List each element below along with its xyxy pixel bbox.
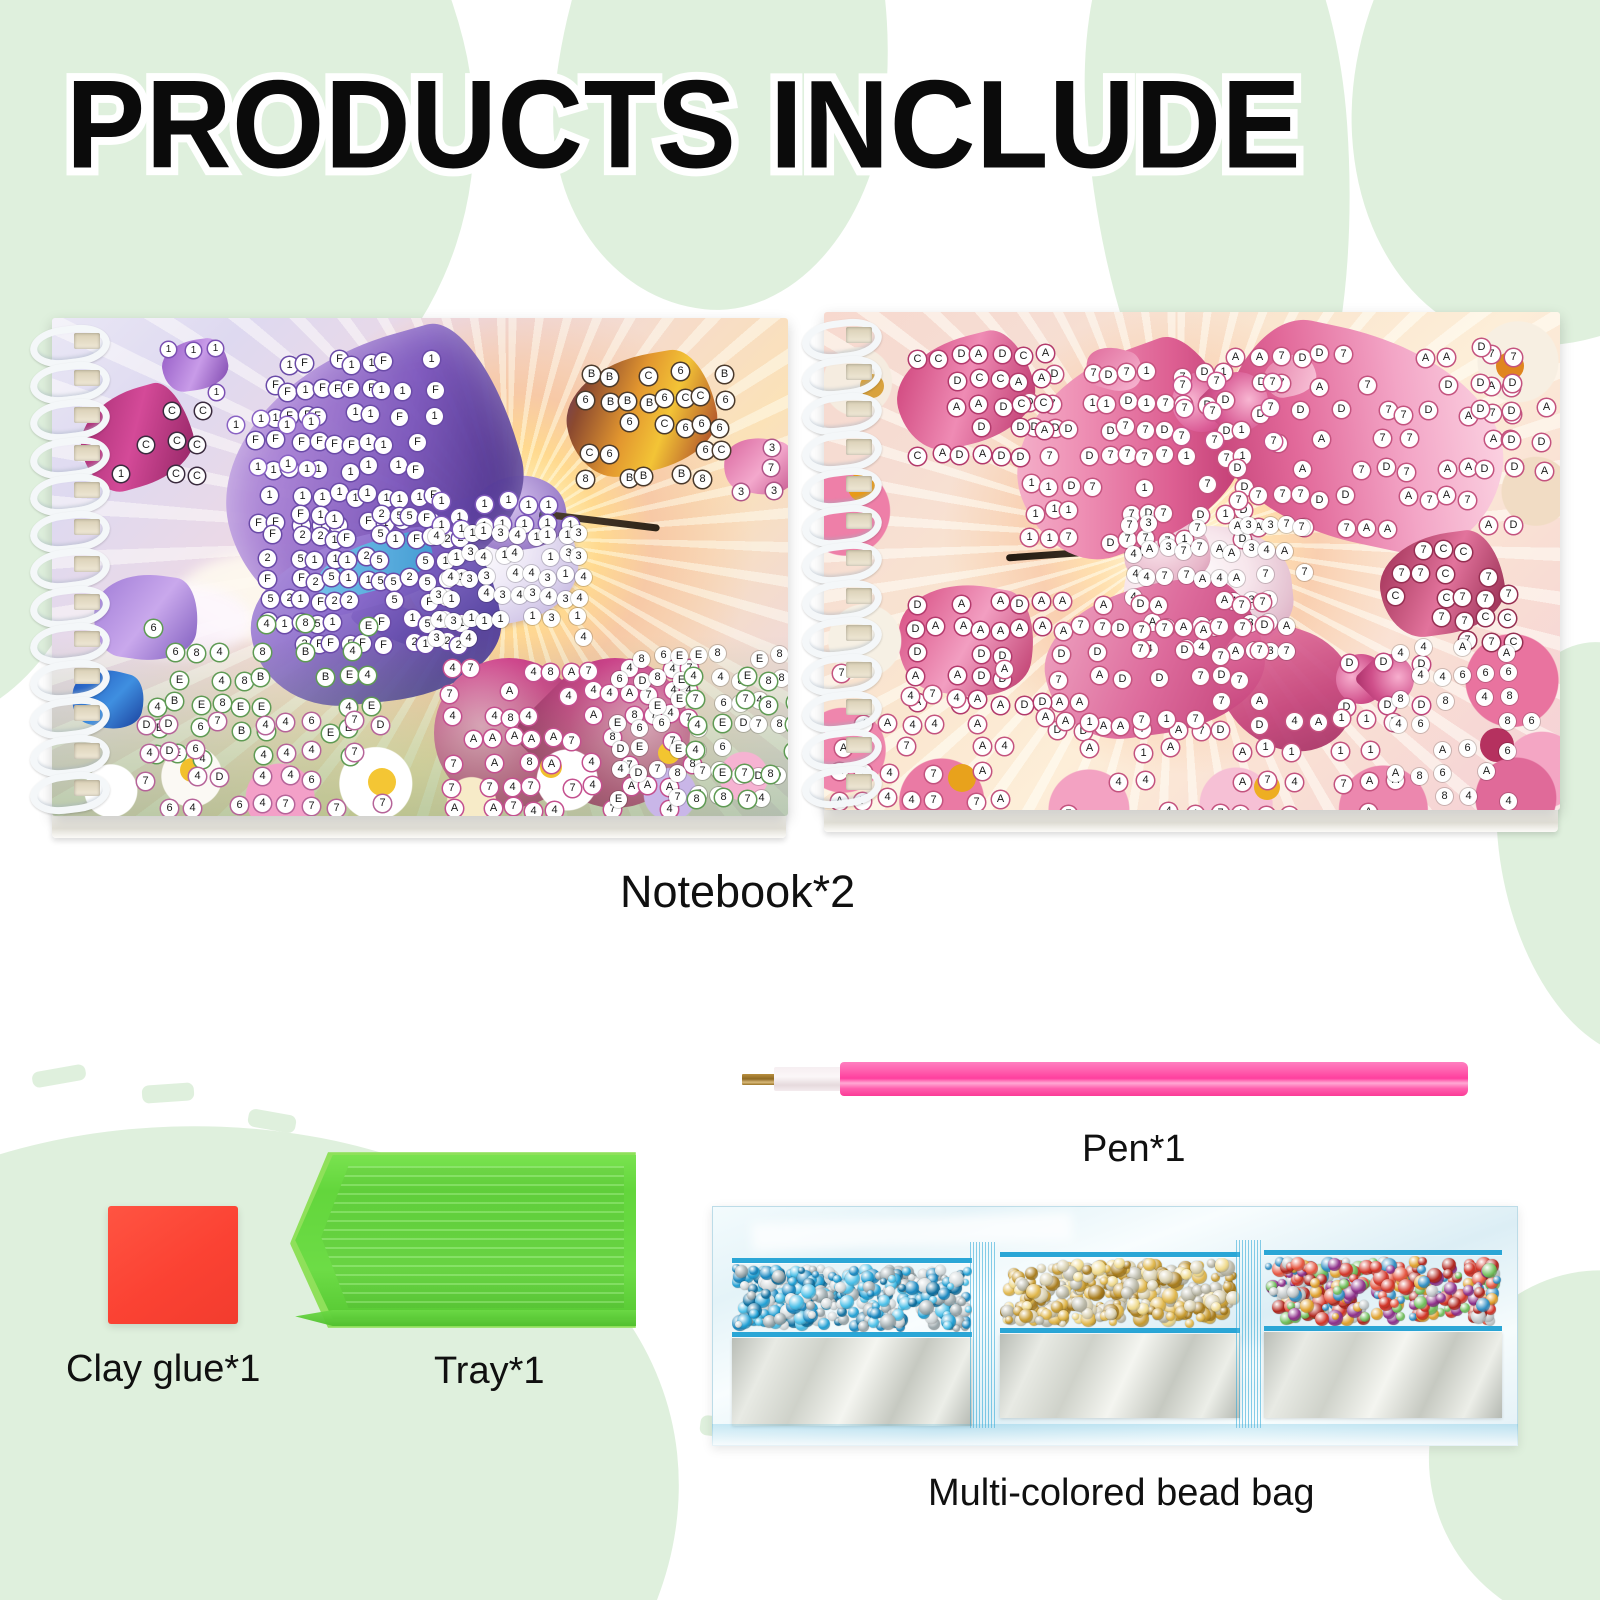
drill-marker: 2 xyxy=(401,569,418,586)
drill-marker: 4 xyxy=(1390,716,1407,733)
drill-marker: 4 xyxy=(282,767,299,784)
drill-marker: 7 xyxy=(1398,464,1415,481)
drill-marker: 1 xyxy=(557,566,574,583)
drill-marker: 7 xyxy=(374,795,391,812)
drill-marker: B xyxy=(233,723,250,740)
drill-marker: A xyxy=(1251,349,1268,366)
rhinestone-bead xyxy=(1026,1284,1041,1299)
drill-marker: 8 xyxy=(236,673,253,690)
spiral-punch-hole xyxy=(846,662,872,678)
drill-marker: 6 xyxy=(167,644,184,661)
drill-marker: 7 xyxy=(1257,566,1274,583)
rhinestone-bead xyxy=(1300,1299,1314,1313)
drill-marker: 7 xyxy=(1094,619,1111,636)
drill-marker: 4 xyxy=(478,585,495,602)
drill-marker: D xyxy=(1151,670,1168,687)
drill-marker: 7 xyxy=(737,691,754,708)
drill-marker: D xyxy=(1212,722,1229,739)
rhinestone-bead xyxy=(1019,1309,1033,1323)
caption-clay-glue: Clay glue*1 xyxy=(66,1348,260,1391)
rhinestone-bead xyxy=(1185,1319,1194,1328)
notebook-pink-hummingbird[interactable]: D7D717D1D711D177DDDDDD77DD17D777717111D7… xyxy=(800,312,1560,832)
drill-marker: 1 xyxy=(1027,506,1044,523)
drill-marker: A xyxy=(1387,765,1404,782)
drill-marker: 7 xyxy=(1505,349,1522,366)
drill-marker: 1 xyxy=(1081,714,1098,731)
rhinestone-bead xyxy=(1190,1261,1203,1274)
drill-marker: A xyxy=(1234,774,1251,791)
rhinestone-bead xyxy=(1211,1302,1221,1312)
drill-marker: E xyxy=(670,741,687,758)
rhinestone-bead xyxy=(1269,1287,1278,1296)
drill-marker: C xyxy=(640,368,657,385)
drill-marker: D xyxy=(1413,697,1430,714)
drill-marker: A xyxy=(563,664,580,681)
drill-marker: 5 xyxy=(323,569,340,586)
drill-marker: 7 xyxy=(1174,377,1191,394)
drill-marker: 4 xyxy=(584,777,601,794)
drill-marker: D xyxy=(1476,461,1493,478)
drill-marker: F xyxy=(279,384,296,401)
drill-marker: 3 xyxy=(543,610,560,627)
drill-marker: D xyxy=(994,346,1011,363)
drill-marker: 4 xyxy=(277,714,294,731)
drill-marker: B xyxy=(716,366,733,383)
drill-marker: 7 xyxy=(1189,520,1206,537)
spiral-punch-hole xyxy=(74,780,100,796)
rhinestone-bead xyxy=(905,1281,919,1295)
drill-marker: 3 xyxy=(766,483,782,499)
drill-marker: 3 xyxy=(570,548,587,565)
drill-marker: 1 xyxy=(1257,739,1274,756)
drill-marker: 7 xyxy=(1433,609,1450,626)
rhinestone-bead xyxy=(1396,1312,1405,1321)
rhinestone-bead xyxy=(888,1275,896,1283)
blue-bead-pouch xyxy=(732,1240,972,1428)
drill-marker: 7 xyxy=(1137,422,1154,439)
drill-marker: 8 xyxy=(760,673,777,690)
drill-marker: 1 xyxy=(306,552,323,569)
drill-marker: 7 xyxy=(649,761,666,778)
rhinestone-bead xyxy=(774,1313,786,1325)
drill-marker: D xyxy=(1229,460,1246,477)
zip-seal xyxy=(1000,1252,1240,1257)
drill-marker: 4 xyxy=(444,660,461,677)
drill-marker: F xyxy=(259,571,276,588)
drill-marker: D xyxy=(138,717,155,734)
drill-marker: 7 xyxy=(462,660,479,677)
caption-notebook: Notebook*2 xyxy=(620,866,855,918)
drill-marker: 4 xyxy=(1415,639,1432,656)
silver-foil-label xyxy=(1264,1332,1502,1418)
drill-marker: C xyxy=(930,351,947,368)
drill-marker: 6 xyxy=(715,695,732,712)
drill-marker: C xyxy=(1013,396,1030,413)
drill-marker: 4 xyxy=(612,761,629,778)
diamond-painting-pen[interactable] xyxy=(742,1062,1468,1096)
drill-marker: 6 xyxy=(1434,765,1451,782)
drill-marker: 8 xyxy=(1436,788,1453,805)
drill-marker: 3 xyxy=(494,587,511,604)
drill-marker: D xyxy=(1533,434,1550,451)
rhinestone-bead xyxy=(1455,1272,1462,1279)
drill-marker: 7 xyxy=(1250,487,1267,504)
drill-marker: D xyxy=(1132,596,1149,613)
rhinestone-bead xyxy=(755,1318,763,1326)
drill-marker: 7 xyxy=(898,738,915,755)
drill-marker: 7 xyxy=(968,794,985,810)
drill-marker: 4 xyxy=(254,768,271,785)
drill-marker: 1 xyxy=(500,492,517,509)
zip-seal xyxy=(1264,1250,1502,1255)
drill-marker: D xyxy=(1112,620,1129,637)
drill-marker: 1 xyxy=(342,464,359,481)
spiral-punch-hole xyxy=(74,445,100,461)
drill-marker: A xyxy=(996,661,1013,678)
drill-marker: F xyxy=(264,526,281,543)
drill-marker: F xyxy=(427,382,444,399)
drill-marker: 1 xyxy=(1136,480,1153,497)
drill-marker: 7 xyxy=(739,791,756,808)
page-title: PRODUCTS INCLUDE xyxy=(66,52,1301,196)
drill-marker: D xyxy=(1333,401,1350,418)
rhinestone-bead xyxy=(740,1281,749,1290)
drill-marker: 1 xyxy=(294,488,311,505)
drill-marker: 1 xyxy=(1138,395,1155,412)
drill-marker: D xyxy=(1472,401,1489,418)
drill-marker: A xyxy=(486,755,503,772)
drill-marker: E xyxy=(322,725,339,742)
drill-marker: 7 xyxy=(445,756,462,773)
drill-marker: C xyxy=(1387,588,1404,605)
drill-marker: A xyxy=(1310,714,1327,731)
drill-marker: 4 xyxy=(571,590,588,607)
drill-marker: B xyxy=(635,468,652,485)
drill-marker: A xyxy=(1434,742,1451,759)
drill-marker: 6 xyxy=(1499,743,1516,760)
drill-marker: 1 xyxy=(280,456,296,472)
drill-marker: 4 xyxy=(1286,774,1303,791)
drill-marker: C xyxy=(992,371,1009,388)
drill-marker: 8 xyxy=(542,664,559,681)
drill-marker: 7 xyxy=(1483,634,1500,651)
drill-marker: 1 xyxy=(1283,744,1300,761)
drill-marker: 7 xyxy=(1157,395,1174,412)
drill-marker: A xyxy=(1081,740,1098,757)
drill-marker: 7 xyxy=(1264,374,1281,391)
notebook-cover-artwork: 1FF11F1FF1FFFF11F1FFF11F1FFFFFF11F1F1111… xyxy=(52,318,788,816)
drill-marker: D xyxy=(1063,478,1080,495)
rhinestone-bead xyxy=(1166,1312,1175,1321)
drill-marker: D xyxy=(161,743,178,760)
drill-marker: 7 xyxy=(1454,589,1471,606)
drill-marker: 6 xyxy=(677,420,694,437)
spiral-punch-hole xyxy=(74,743,100,759)
drill-marker: 1 xyxy=(1040,479,1057,496)
drill-marker: 3 xyxy=(461,571,478,588)
drill-marker: 4 xyxy=(996,738,1013,755)
drill-marker: C xyxy=(909,448,926,465)
clay-glue-block[interactable] xyxy=(108,1206,238,1324)
drill-marker: 1 xyxy=(360,457,377,474)
drill-marker: A xyxy=(1536,463,1553,480)
drill-marker: 6 xyxy=(697,442,714,459)
drill-marker: A xyxy=(1379,521,1396,538)
drill-marker: 8 xyxy=(297,615,314,632)
drill-marker: 7 xyxy=(1191,539,1208,556)
rhinestone-bead xyxy=(1100,1277,1108,1285)
drill-marker: A xyxy=(1051,694,1068,711)
rhinestone-bead xyxy=(1278,1279,1286,1287)
drill-marker: 7 xyxy=(1133,712,1150,729)
spiral-punch-hole xyxy=(74,407,100,423)
drill-marker: 7 xyxy=(1231,672,1248,689)
drill-marker: F xyxy=(322,635,339,652)
drill-marker: 8 xyxy=(577,471,594,488)
drill-marker: 4 xyxy=(344,643,361,660)
drill-marker: 1 xyxy=(339,552,356,569)
drill-marker: A xyxy=(1278,618,1295,635)
drill-marker: B xyxy=(583,366,600,383)
rhinestone-bead xyxy=(735,1265,748,1278)
drill-marker: E xyxy=(610,791,627,808)
drill-marker: D xyxy=(1375,654,1392,671)
drill-marker: 3 xyxy=(570,525,587,542)
drill-marker: A xyxy=(992,697,1009,714)
rhinestone-bead xyxy=(735,1321,742,1328)
drill-marker: C xyxy=(1035,395,1052,412)
rhinestone-bead xyxy=(1056,1286,1069,1299)
rhinestone-bead xyxy=(821,1298,832,1309)
drill-marker: 7 xyxy=(580,663,597,680)
drill-marker: D xyxy=(909,644,926,661)
drill-marker: A xyxy=(1313,431,1330,448)
drill-marker: F xyxy=(292,506,309,523)
rhinestone-bead xyxy=(1025,1267,1038,1280)
rhinestone-bead xyxy=(1162,1288,1178,1304)
drill-marker: D xyxy=(1337,487,1354,504)
drill-marker: 7 xyxy=(1500,586,1517,603)
drill-marker: A xyxy=(934,445,951,462)
drill-marker: D xyxy=(1016,697,1033,714)
drill-marker: A xyxy=(1361,773,1378,790)
drill-marker: 6 xyxy=(631,720,648,737)
spiral-punch-hole xyxy=(74,556,100,572)
spiral-punch-hole xyxy=(846,625,872,641)
bag-ribbed-seam xyxy=(970,1242,996,1428)
drill-marker: 7 xyxy=(1456,613,1473,630)
drill-marker: D xyxy=(160,716,177,733)
drill-marker: 4 xyxy=(1434,669,1451,686)
drill-marker: A xyxy=(446,800,463,816)
drill-marker: 4 xyxy=(486,708,503,725)
drill-marker: 4 xyxy=(507,565,524,582)
drill-marker: 8 xyxy=(521,754,538,771)
drill-marker: 6 xyxy=(621,414,638,431)
drill-marker: E xyxy=(649,698,666,715)
drill-marker: D xyxy=(211,769,228,786)
drill-marker: A xyxy=(948,399,965,416)
drill-marker: A xyxy=(1400,488,1417,505)
drill-marker: A xyxy=(1036,422,1053,439)
drill-marker: D xyxy=(1504,375,1521,392)
drill-marker: 8 xyxy=(214,695,231,712)
drill-marker: A xyxy=(506,728,523,745)
drill-marker: 1 xyxy=(539,527,556,544)
drill-marker: 7 xyxy=(1119,446,1136,463)
drill-marker: D xyxy=(1256,617,1273,634)
red-beads xyxy=(1264,1256,1502,1326)
drill-marker: 1 xyxy=(569,608,586,625)
notebook-purple-hummingbird[interactable]: 1FF11F1FF1FFFF11F1FFF11F1FFFFFF11F1F1111… xyxy=(28,318,788,838)
drill-marker: A xyxy=(545,729,562,746)
tray-front-lip xyxy=(295,1310,636,1326)
drill-marker: A xyxy=(992,791,1009,808)
drill-marker: B xyxy=(166,693,183,710)
rhinestone-bead xyxy=(1328,1258,1341,1271)
drill-marker: C xyxy=(656,416,673,433)
drill-marker: 1 xyxy=(209,385,224,400)
drill-marker: A xyxy=(1033,593,1050,610)
drill-marker: 7 xyxy=(1230,492,1247,509)
rhinestone-bead xyxy=(908,1298,917,1307)
drill-marker: 7 xyxy=(1204,403,1221,420)
flower-cluster-bottom xyxy=(824,660,1560,810)
drill-marker: 1 xyxy=(292,591,309,608)
drill-marker: 1 xyxy=(362,406,379,423)
rhinestone-bead xyxy=(761,1289,771,1299)
drill-marker: 7 xyxy=(1262,399,1279,416)
drill-marker: 4 xyxy=(879,789,896,806)
rhinestone-bead xyxy=(1414,1296,1427,1309)
rhinestone-bead xyxy=(1460,1303,1470,1313)
rhinestone-bead xyxy=(1184,1300,1196,1312)
drill-marker: E xyxy=(232,699,249,716)
drill-marker: 1 xyxy=(1233,422,1250,439)
bead-tray[interactable] xyxy=(290,1152,636,1328)
drill-marker: 7 xyxy=(1050,672,1067,689)
drill-marker: 4 xyxy=(585,682,602,699)
drill-marker: 7 xyxy=(303,798,320,815)
drill-marker: D xyxy=(1503,432,1520,449)
rhinestone-bead xyxy=(806,1301,815,1310)
drill-marker: 1 xyxy=(261,487,278,504)
drill-marker: C xyxy=(971,370,988,387)
drill-marker: 6 xyxy=(187,741,204,758)
drill-marker: A xyxy=(1162,739,1179,756)
spiral-punch-hole xyxy=(846,327,872,343)
rhinestone-bead xyxy=(1005,1316,1013,1324)
drill-marker: A xyxy=(949,667,966,684)
silver-foil-label xyxy=(732,1338,972,1426)
drill-marker: 4 xyxy=(141,745,158,762)
drill-marker: 7 xyxy=(1173,428,1190,445)
drill-marker: E xyxy=(363,698,380,715)
drill-marker: A xyxy=(1294,461,1311,478)
zip-seal xyxy=(732,1258,972,1263)
drill-marker: D xyxy=(1311,492,1328,509)
drill-marker: 4 xyxy=(902,688,919,705)
drill-marker: E xyxy=(631,739,648,756)
spiral-punch-hole xyxy=(846,401,872,417)
drill-marker: 6 xyxy=(161,800,178,816)
drill-marker: 6 xyxy=(717,392,734,409)
drill-marker: 8 xyxy=(1437,693,1454,710)
drill-marker: 4 xyxy=(948,690,965,707)
drill-marker: C xyxy=(138,437,154,453)
drill-marker: 1 xyxy=(1362,742,1379,759)
drill-marker: 7 xyxy=(1477,591,1494,608)
rhinestone-bead xyxy=(788,1277,797,1286)
drill-marker: 4 xyxy=(575,569,592,586)
drill-marker: 7 xyxy=(328,800,345,816)
drill-marker: D xyxy=(1012,419,1029,436)
multi-colored-bead-bag[interactable] xyxy=(712,1206,1518,1446)
drill-marker: F xyxy=(293,434,310,451)
drill-marker: D xyxy=(630,765,647,782)
drill-marker: A xyxy=(1091,667,1108,684)
rhinestone-bead xyxy=(1082,1265,1092,1275)
rhinestone-bead xyxy=(1040,1273,1053,1286)
drill-marker: A xyxy=(1034,618,1051,635)
drill-marker: E xyxy=(253,699,270,716)
drill-marker: D xyxy=(1011,596,1028,613)
drill-marker: C xyxy=(164,403,180,419)
drill-marker: 1 xyxy=(476,496,493,513)
spiral-punch-hole xyxy=(74,482,100,498)
rhinestone-bead xyxy=(1332,1313,1339,1320)
drill-marker: 7 xyxy=(1401,430,1418,447)
drill-marker: A xyxy=(970,396,987,413)
drill-marker: 4 xyxy=(881,765,898,782)
drill-marker: 6 xyxy=(611,671,628,688)
drill-marker: 6 xyxy=(601,446,618,463)
drill-marker: A xyxy=(972,622,989,639)
drill-marker: A xyxy=(1227,643,1244,660)
rhinestone-bead xyxy=(1152,1308,1164,1320)
drill-marker: 1 xyxy=(359,485,376,502)
drill-marker: C xyxy=(909,351,926,368)
drill-marker: 1 xyxy=(540,497,557,514)
rhinestone-bead xyxy=(898,1284,906,1292)
drill-marker: 4 xyxy=(1138,569,1155,586)
drill-marker: 6 xyxy=(653,715,670,732)
drill-marker: E xyxy=(360,618,377,635)
drill-marker: F xyxy=(391,409,408,426)
drill-marker: 4 xyxy=(583,754,600,771)
drill-marker: 4 xyxy=(184,800,201,816)
drill-marker: 4 xyxy=(926,716,943,733)
drill-marker: A xyxy=(1010,374,1027,391)
drill-marker: 4 xyxy=(1110,774,1127,791)
rhinestone-bead xyxy=(808,1311,816,1319)
rhinestone-bead xyxy=(1310,1278,1320,1288)
drill-marker: 7 xyxy=(1178,567,1195,584)
drill-marker: 7 xyxy=(750,716,767,733)
drill-marker: 7 xyxy=(564,780,581,797)
drill-marker: 1 xyxy=(297,382,314,399)
drill-marker: 1 xyxy=(1041,530,1058,547)
drill-marker: 7 xyxy=(1072,617,1089,634)
drill-marker: 7 xyxy=(522,778,539,795)
drill-marker: 7 xyxy=(1176,400,1193,417)
rhinestone-bead xyxy=(1386,1265,1395,1274)
dash-mark xyxy=(247,1108,297,1134)
drill-marker: 8 xyxy=(715,789,732,806)
drill-marker: 1 xyxy=(253,411,269,427)
drill-marker: 8 xyxy=(1501,688,1518,705)
rhinestone-bead xyxy=(1417,1265,1426,1274)
